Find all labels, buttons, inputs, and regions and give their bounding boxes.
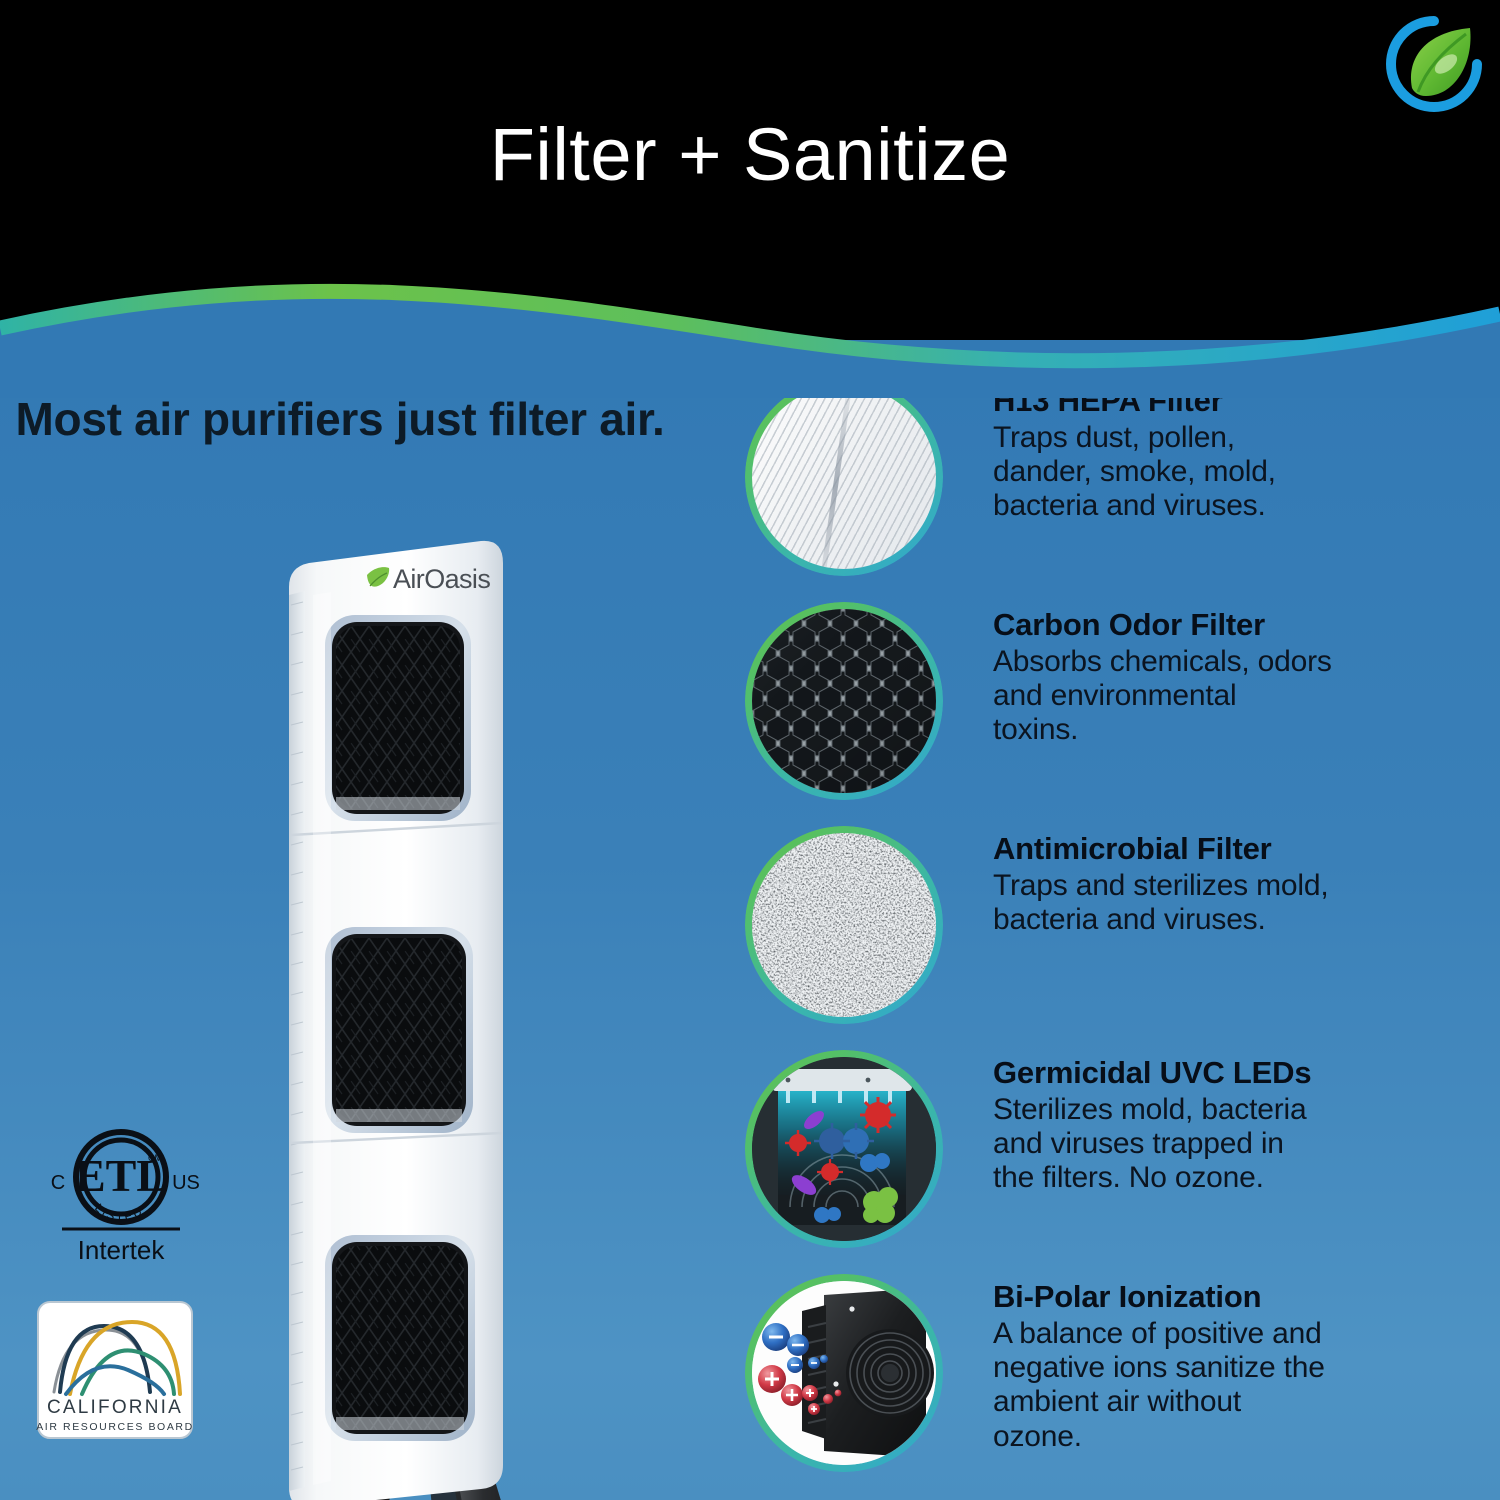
feature-description: Traps and sterilizes mold, bacteria and … (993, 869, 1485, 937)
etl-trademark: CM (148, 1153, 162, 1163)
hepa-filter-circle (745, 378, 943, 576)
feature-description: Traps dust, pollen, dander, smoke, mold,… (993, 421, 1485, 524)
wave-divider (0, 268, 1500, 398)
feature-row: Antimicrobial Filter Traps and sterilize… (745, 826, 1485, 1050)
etl-right-letter: US (172, 1172, 200, 1194)
feature-row: Bi-Polar Ionization A balance of positiv… (745, 1274, 1485, 1498)
feature-title: Antimicrobial Filter (993, 832, 1485, 866)
feature-row: Carbon Odor Filter Absorbs chemicals, od… (745, 602, 1485, 826)
left-headline: Most air purifiers just filter air. (0, 392, 680, 446)
carb-line1: CALIFORNIA (47, 1397, 183, 1418)
carb-badge: CALIFORNIA AIR RESOURCES BOARD (36, 1300, 194, 1440)
svg-text:AirOasis: AirOasis (393, 564, 490, 594)
purifier-vent-2 (325, 927, 473, 1133)
etl-listed-badge: ETL C US CM LISTED Intertek (36, 1125, 206, 1270)
etl-left-letter: C (51, 1172, 65, 1194)
feature-description: Absorbs chemicals, odors and environment… (993, 645, 1485, 748)
page-title: Filter + Sanitize (0, 118, 1500, 192)
infographic-page: Most air purifiers just filter air. (0, 0, 1500, 1500)
purifier-vent-3 (325, 1235, 475, 1441)
feature-row: H13 HEPA Filter Traps dust, pollen, dand… (745, 378, 1485, 602)
feature-title: Carbon Odor Filter (993, 608, 1485, 642)
feature-list: H13 HEPA Filter Traps dust, pollen, dand… (745, 378, 1485, 1498)
bipolar-ionization-circle (745, 1274, 943, 1472)
purifier-vent-1 (325, 615, 471, 821)
feature-description: Sterilizes mold, bacteria and viruses tr… (993, 1093, 1485, 1196)
leaf-circle-logo (1382, 12, 1486, 116)
etl-company: Intertek (78, 1235, 166, 1265)
feature-row: Germicidal UVC LEDs Sterilizes mold, bac… (745, 1050, 1485, 1274)
air-purifier-image: AirOasis (243, 535, 553, 1500)
uvc-led-circle (745, 1050, 943, 1248)
carbon-filter-circle (745, 602, 943, 800)
feature-description: A balance of positive and negative ions … (993, 1317, 1485, 1454)
feature-title: Germicidal UVC LEDs (993, 1056, 1485, 1090)
feature-title: Bi-Polar Ionization (993, 1280, 1485, 1314)
body-panel: Most air purifiers just filter air. (0, 330, 1500, 1500)
antimicrobial-filter-circle (745, 826, 943, 1024)
carb-line2: AIR RESOURCES BOARD (36, 1421, 194, 1433)
